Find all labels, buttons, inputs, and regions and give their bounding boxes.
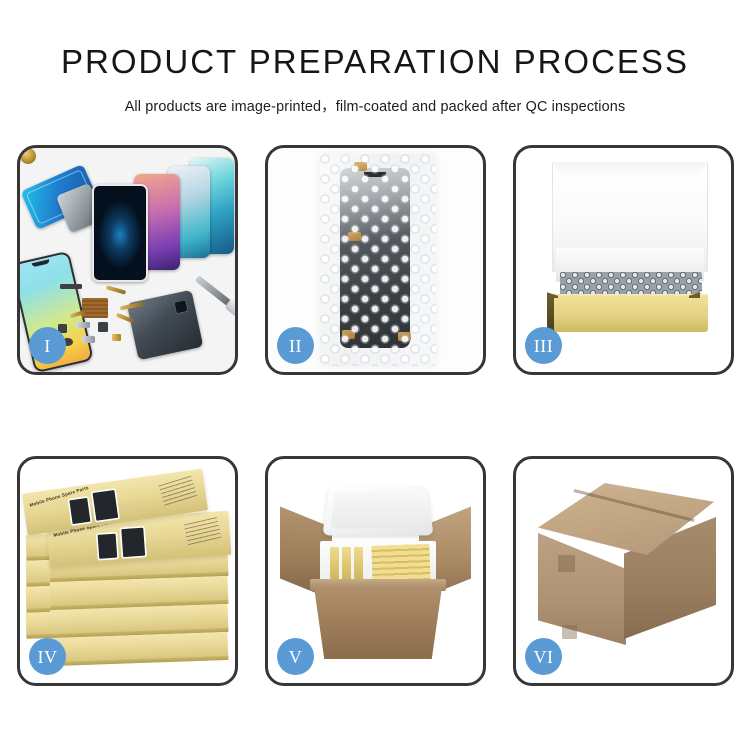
- foam-cooler-lid: [322, 486, 433, 536]
- logic-board: [82, 298, 108, 318]
- yellow-box-2: [342, 547, 351, 581]
- page-title: PRODUCT PREPARATION PROCESS: [0, 45, 750, 78]
- yellow-box-group: [371, 544, 430, 584]
- part-chip-4: [82, 336, 95, 343]
- process-step-4: Mobile Phone Spare Parts Mobile Phone Sp…: [17, 456, 238, 686]
- carton-face-left: [538, 533, 626, 645]
- carton-tape-upper: [558, 555, 575, 572]
- label-window-b2: [93, 490, 119, 521]
- part-chip-6: [112, 334, 121, 341]
- flex-cable-1: [106, 285, 126, 294]
- carton-tape-lower: [562, 625, 577, 639]
- process-step-5: V: [265, 456, 486, 686]
- phone-dark-display: [92, 184, 148, 282]
- label-window-b1: [69, 498, 90, 524]
- label-textlines-top: [159, 476, 198, 507]
- stacked-box-r4: [50, 632, 229, 666]
- page-subtitle: All products are image-printed，film-coat…: [0, 95, 750, 116]
- step-badge-4: IV: [29, 638, 66, 675]
- label-window-a2: [121, 528, 145, 557]
- step-badge-6: VI: [525, 638, 562, 675]
- speaker-coil: [20, 148, 36, 164]
- phone-back-housing: [127, 290, 204, 360]
- process-step-3: III: [513, 145, 734, 375]
- header: PRODUCT PREPARATION PROCESS All products…: [0, 0, 750, 116]
- bubble-texture: [320, 154, 436, 366]
- foam-lid-top-edge: [552, 162, 708, 178]
- part-chip-5: [98, 322, 108, 332]
- step-badge-1: I: [29, 327, 66, 364]
- step-badge-3: III: [525, 327, 562, 364]
- process-step-1: I: [17, 145, 238, 375]
- process-step-grid: I II: [17, 145, 733, 686]
- screwdriver: [195, 275, 234, 308]
- label-textlines-front: [184, 517, 222, 546]
- bubble-wrap-bag: [320, 154, 436, 366]
- carton-body: [314, 587, 442, 659]
- label-window-a1: [98, 534, 118, 559]
- process-step-2: II: [265, 145, 486, 375]
- step-badge-5: V: [277, 638, 314, 675]
- yellow-box-3: [354, 547, 363, 581]
- part-chip-1: [60, 284, 82, 289]
- yellow-box-1: [330, 547, 339, 581]
- box-front-panel: [554, 298, 708, 332]
- part-chip-2: [76, 322, 90, 328]
- product-preparation-infographic: PRODUCT PREPARATION PROCESS All products…: [0, 0, 750, 750]
- process-step-6: VI: [513, 456, 734, 686]
- step-badge-2: II: [277, 327, 314, 364]
